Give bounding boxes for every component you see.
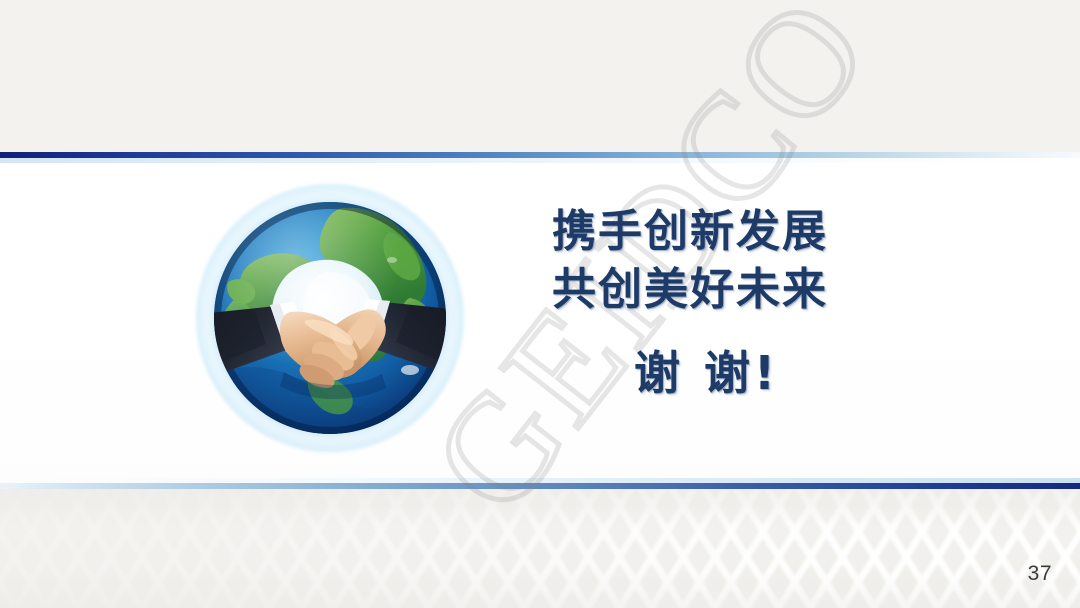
headline-line-2: 共创美好未来 bbox=[552, 261, 828, 319]
lattice-shading bbox=[0, 489, 1080, 608]
bottom-divider-rule bbox=[0, 483, 1080, 489]
handshake-icon bbox=[214, 202, 446, 434]
top-divider-glow bbox=[0, 158, 1080, 163]
top-blank-band bbox=[0, 0, 1080, 153]
headline-block: 携手创新发展 共创美好未来 bbox=[552, 203, 828, 319]
bottom-divider-glow bbox=[0, 478, 1080, 483]
content-panel bbox=[0, 153, 1080, 487]
globe-handshake-emblem bbox=[196, 184, 464, 452]
globe-image bbox=[214, 202, 446, 434]
page-number: 37 bbox=[1028, 562, 1052, 586]
headline-line-1: 携手创新发展 bbox=[552, 203, 828, 261]
bottom-texture-band bbox=[0, 489, 1080, 608]
thanks-text: 谢 谢! bbox=[634, 345, 779, 401]
slide-canvas: 携手创新发展 共创美好未来 谢 谢! GEIDCO 37 bbox=[0, 0, 1080, 608]
